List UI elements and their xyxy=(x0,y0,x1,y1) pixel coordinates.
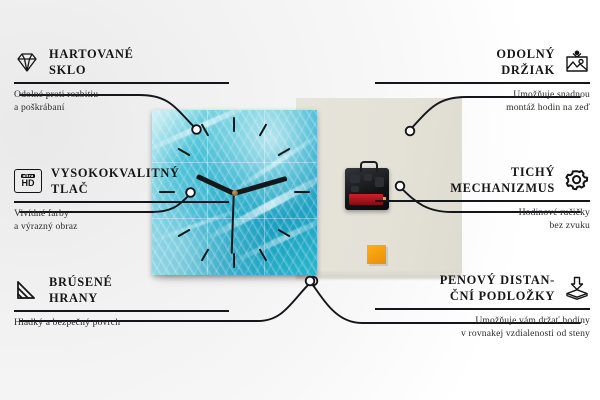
clock-tick xyxy=(259,123,268,136)
feature-rule xyxy=(14,201,229,203)
feature-head: HARTOVANÉ SKLO xyxy=(14,46,229,81)
diamond-icon xyxy=(14,50,40,74)
mechanism-detail xyxy=(351,186,359,192)
feature-head: PENOVÝ DISTAN- ČNÍ PODLOŽKY xyxy=(375,272,590,307)
feature-rule xyxy=(375,200,590,202)
feature-title: TICHÝ MECHANIZMUS xyxy=(450,164,555,196)
feature-desc: Odolné proti rozbitiu a poškrábaní xyxy=(14,88,229,115)
feature-head: BRÚSENÉ HRANY xyxy=(14,274,229,309)
feature-head: TICHÝ MECHANIZMUS xyxy=(375,164,590,199)
feature-hd-print: ultra HD VYSOKOKVALITNÝ TLAČ Vivídné far… xyxy=(14,165,229,234)
feature-tempered-glass: HARTOVANÉ SKLO Odolné proti rozbitiu a p… xyxy=(14,46,229,115)
clock-tick xyxy=(294,191,310,193)
ultra-hd-icon-main: HD xyxy=(22,179,35,188)
gear-icon xyxy=(564,168,590,192)
feature-title: HARTOVANÉ SKLO xyxy=(49,46,134,78)
feature-rule xyxy=(375,308,590,310)
feature-durable-holder: ODOLNÝ DRŽIAK Umožňuje snadnou montáž ho… xyxy=(375,46,590,115)
picture-hanger-icon xyxy=(564,50,590,74)
feature-ground-edges: BRÚSENÉ HRANY Hladký a bezpečný povrch xyxy=(14,274,229,329)
feature-rule xyxy=(14,310,229,312)
clock-center-cap xyxy=(232,190,238,196)
foam-spacer-pad xyxy=(367,245,386,264)
mechanism-detail xyxy=(350,175,360,183)
feature-desc: Vivídné farby a výrazný obraz xyxy=(14,207,229,234)
feather-streak xyxy=(223,208,317,269)
feature-head: ultra HD VYSOKOKVALITNÝ TLAČ xyxy=(14,165,229,200)
feature-foam-spacers: PENOVÝ DISTAN- ČNÍ PODLOŽKY Umožňuje vám… xyxy=(375,272,590,341)
ultra-hd-icon: ultra HD xyxy=(14,169,42,193)
feature-head: ODOLNÝ DRŽIAK xyxy=(375,46,590,81)
feature-title: VYSOKOKVALITNÝ TLAČ xyxy=(51,165,180,197)
infographic-canvas: HARTOVANÉ SKLO Odolné proti rozbitiu a p… xyxy=(0,0,600,400)
feature-title: BRÚSENÉ HRANY xyxy=(49,274,112,306)
feature-rule xyxy=(14,82,229,84)
feature-silent-mechanism: TICHÝ MECHANIZMUS Hodinové ručičky bez z… xyxy=(375,164,590,233)
foam-pad-icon xyxy=(564,276,590,300)
mechanism-detail xyxy=(364,174,372,181)
glass-seam xyxy=(264,110,265,275)
clock-tick xyxy=(233,117,235,132)
feather-streak xyxy=(152,110,268,157)
clock-tick xyxy=(177,148,190,157)
glass-seam xyxy=(152,162,317,163)
feature-title: PENOVÝ DISTAN- ČNÍ PODLOŽKY xyxy=(440,272,555,304)
feature-title: ODOLNÝ DRŽIAK xyxy=(496,46,555,78)
clock-tick xyxy=(233,253,235,268)
clock-tick xyxy=(201,248,210,261)
feature-desc: Hladký a bezpečný povrch xyxy=(14,316,229,330)
feature-desc: Hodinové ručičky bez zvuku xyxy=(375,206,590,233)
feature-desc: Umožňuje snadnou montáž hodin na zeď xyxy=(375,88,590,115)
ground-edges-icon xyxy=(14,278,40,302)
feature-rule xyxy=(375,82,590,84)
feature-desc: Umožňuje vám držať hodiny v rovnakej vzd… xyxy=(375,314,590,341)
